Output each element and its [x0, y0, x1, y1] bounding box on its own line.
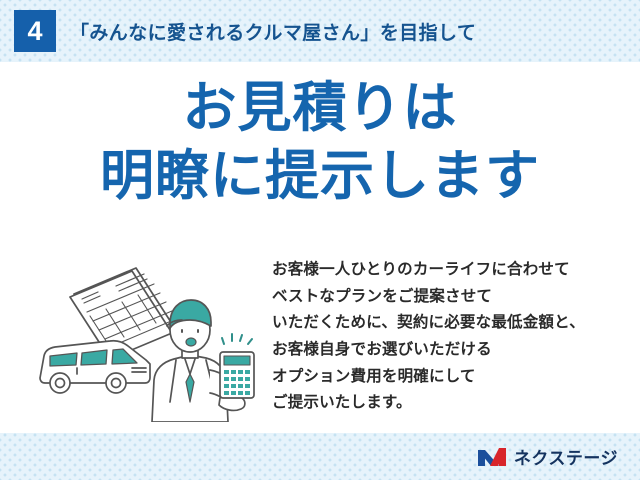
- footer-bar: ネクステージ: [0, 433, 640, 480]
- body-line: お客様一人ひとりのカーライフに合わせて: [272, 257, 632, 284]
- nextage-n-logo-icon: [477, 447, 507, 467]
- body-line: お客様自身でお選びいただける: [272, 337, 632, 364]
- headline-line-2: 明瞭に提示します: [0, 146, 640, 208]
- content-panel: お見積りは 明瞭に提示します: [0, 62, 640, 433]
- body-line: いただくために、契約に必要な最低金額と、: [272, 310, 632, 337]
- header-bar: 4 「みんなに愛されるクルマ屋さん」を目指して: [0, 0, 640, 62]
- body-paragraph: お客様一人ひとりのカーライフに合わせて ベストなプランをご提案させて いただくた…: [272, 257, 632, 417]
- calculator-icon: [220, 352, 254, 398]
- illustration: [24, 252, 264, 422]
- body-line: ご提示いたします。: [272, 390, 632, 417]
- body-line: オプション費用を明確にして: [272, 364, 632, 391]
- header-title: 「みんなに愛されるクルマ屋さん」を目指して: [70, 18, 476, 45]
- headline: お見積りは 明瞭に提示します: [0, 78, 640, 207]
- brand-logo: ネクステージ: [477, 444, 618, 469]
- headline-line-1: お見積りは: [0, 78, 640, 140]
- brand-name: ネクステージ: [514, 444, 618, 469]
- section-number-badge: 4: [14, 10, 56, 52]
- illustration-svg: [24, 252, 264, 422]
- body-line: ベストなプランをご提案させて: [272, 284, 632, 311]
- slide-root: 4 「みんなに愛されるクルマ屋さん」を目指して お見積りは 明瞭に提示します: [0, 0, 640, 480]
- sparkle-icon: [222, 334, 252, 344]
